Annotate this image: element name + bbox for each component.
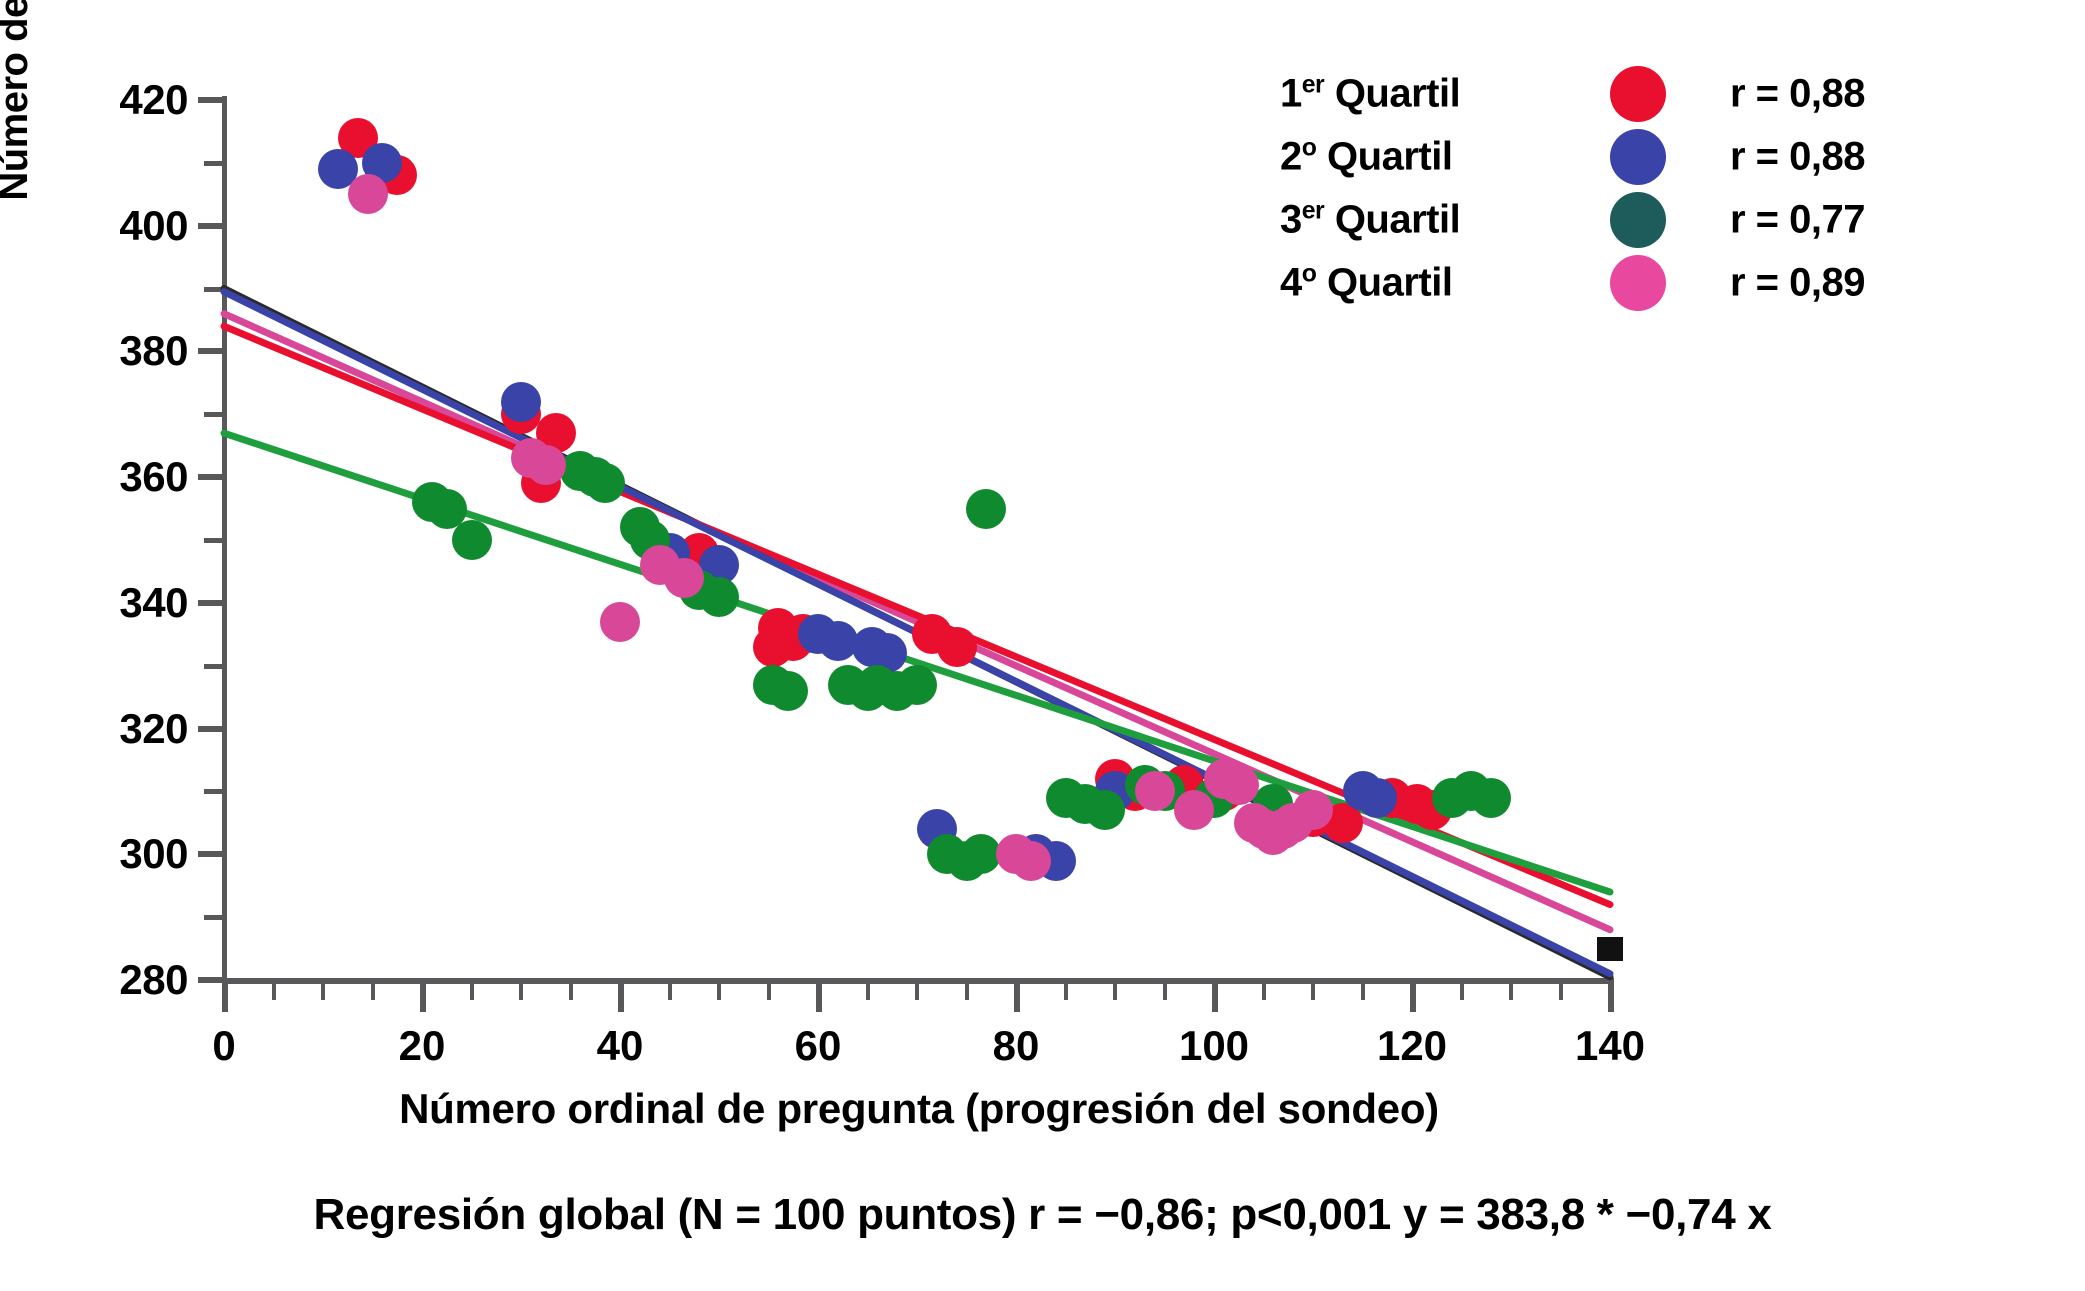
legend-row-1[interactable]: 1er Quartilr = 0,88 [1280,62,1980,125]
x-axis-tick-label: 40 [597,1022,644,1070]
y-axis-minor-tick [204,789,224,794]
x-axis-minor-tick [1460,984,1464,1000]
x-axis-minor-tick [767,984,771,1000]
scatter-point [753,627,793,667]
x-axis-minor-tick [1262,984,1266,1000]
x-axis-minor-tick [519,984,523,1000]
legend-r-value: r = 0,88 [1730,134,1865,179]
scatter-point [1357,778,1397,818]
y-axis-minor-tick [204,161,224,166]
y-axis-tick-label: 320 [0,705,188,753]
x-axis-major-tick [222,984,228,1012]
x-axis-major-tick [816,984,822,1012]
scatter-point [348,174,388,214]
scatter-point [452,520,492,560]
x-axis-minor-tick [915,984,919,1000]
scatter-point [966,489,1006,529]
y-axis-tick-label: 360 [0,453,188,501]
x-axis-minor-tick [866,984,870,1000]
legend-r-value: r = 0,89 [1730,260,1865,305]
x-axis-tick-label: 20 [399,1022,446,1070]
scatter-point [664,558,704,598]
x-axis-minor-tick [371,984,375,1000]
y-axis-tick-label: 380 [0,327,188,375]
x-axis-minor-tick [272,984,276,1000]
scatter-point [1135,771,1175,811]
x-axis-minor-tick [1509,984,1513,1000]
x-axis-minor-tick [1361,984,1365,1000]
scatter-point [600,602,640,642]
legend-row-4[interactable]: 4o Quartilr = 0,89 [1280,251,1980,314]
y-axis-minor-tick [204,915,224,920]
y-axis-major-tick [198,851,224,857]
scatter-point [937,627,977,667]
x-axis-minor-tick [965,984,969,1000]
x-axis-major-tick [1014,984,1020,1012]
regression-caption: Regresión global (N = 100 puntos) r = −0… [0,1190,2085,1240]
x-axis-minor-tick [470,984,474,1000]
legend-label: 2o Quartil [1280,134,1452,179]
legend-label: 1er Quartil [1280,71,1460,116]
legend-r-value: r = 0,88 [1730,71,1865,116]
x-axis-minor-tick [717,984,721,1000]
y-axis-major-tick [198,600,224,606]
scatter-point [1219,765,1259,805]
x-axis-minor-tick [569,984,573,1000]
x-axis-major-tick [1212,984,1218,1012]
x-axis-minor-tick [1163,984,1167,1000]
y-axis-minor-tick [204,664,224,669]
x-axis-minor-tick [321,984,325,1000]
y-axis-major-tick [198,223,224,229]
scatter-point [768,671,808,711]
x-axis-tick-label: 100 [1179,1022,1249,1070]
scatter-point [585,463,625,503]
x-axis-title: Número ordinal de pregunta (progresión d… [224,1085,1614,1133]
y-axis-minor-tick [204,412,224,417]
x-axis-minor-tick [668,984,672,1000]
scatter-point [1011,841,1051,881]
legend-color-swatch [1610,129,1666,185]
legend-color-swatch [1610,66,1666,122]
scatter-point [818,621,858,661]
x-axis-tick-label: 0 [212,1022,235,1070]
scatter-point [501,382,541,422]
x-axis-tick-label: 80 [993,1022,1040,1070]
x-axis-major-tick [420,984,426,1012]
scatter-point [1085,790,1125,830]
scatter-point [1174,790,1214,830]
x-axis-tick-label: 140 [1575,1022,1645,1070]
x-axis-minor-tick [1311,984,1315,1000]
x-axis-minor-tick [1559,984,1563,1000]
x-axis-major-tick [1410,984,1416,1012]
legend-color-swatch [1610,192,1666,248]
scatter-point [526,445,566,485]
y-axis-tick-label: 340 [0,579,188,627]
chart-root: Número de respuestas 2803003203403603804… [0,0,2085,1291]
scatter-point [1293,790,1333,830]
y-axis-major-tick [198,977,224,983]
x-axis-tick-label: 60 [795,1022,842,1070]
y-axis-minor-tick [204,538,224,543]
x-axis-minor-tick [1064,984,1068,1000]
legend-row-3[interactable]: 3er Quartilr = 0,77 [1280,188,1980,251]
y-axis-major-tick [198,348,224,354]
scatter-point [699,577,739,617]
y-axis-tick-label: 400 [0,202,188,250]
y-axis-major-tick [198,474,224,480]
legend-label: 4o Quartil [1280,260,1452,305]
y-axis-tick-label: 420 [0,76,188,124]
legend: 1er Quartilr = 0,882o Quartilr = 0,883er… [1280,62,1980,314]
scatter-point [1471,778,1511,818]
x-axis-major-tick [618,984,624,1012]
legend-row-2[interactable]: 2o Quartilr = 0,88 [1280,125,1980,188]
y-axis-major-tick [198,726,224,732]
y-axis-major-tick [198,97,224,103]
y-axis-tick-label: 280 [0,956,188,1004]
y-axis-tick-label: 300 [0,830,188,878]
legend-r-value: r = 0,77 [1730,197,1865,242]
legend-label: 3er Quartil [1280,197,1460,242]
x-axis-major-tick [1608,984,1614,1012]
legend-color-swatch [1610,255,1666,311]
scatter-point [897,665,937,705]
x-axis-minor-tick [1113,984,1117,1000]
x-axis-tick-label: 120 [1377,1022,1447,1070]
endpoint-square [1597,937,1623,961]
